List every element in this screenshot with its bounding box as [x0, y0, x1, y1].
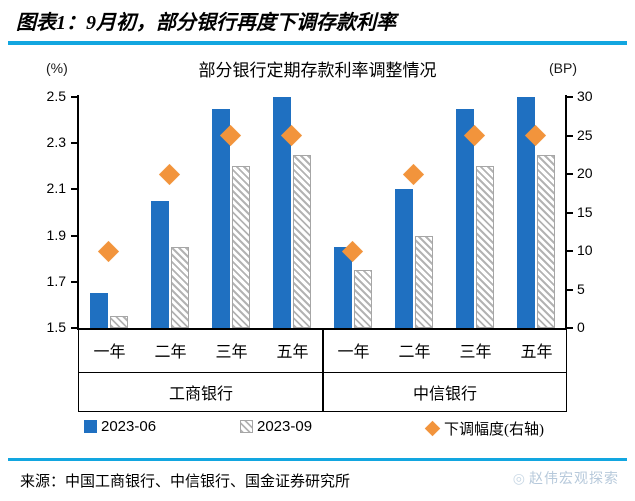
y-axis-right-label: 10 — [577, 242, 617, 258]
y-axis-right-label: 25 — [577, 127, 617, 143]
chart-legend: 2023-062023-09下调幅度(右轴) — [0, 416, 635, 446]
y-axis-left-tick — [71, 327, 77, 329]
x-axis-category-label: 一年 — [324, 338, 384, 362]
y-axis-right-label: 20 — [577, 165, 617, 181]
legend-label: 2023-09 — [257, 418, 312, 435]
legend-item[interactable]: 2023-06 — [84, 418, 156, 435]
y-axis-right-label: 5 — [577, 281, 617, 297]
bar-2023-06 — [395, 189, 413, 328]
y-axis-right-tick — [567, 327, 573, 329]
y-axis-left-label: 1.5 — [26, 319, 66, 335]
x-axis-category-label: 二年 — [385, 338, 445, 362]
bar-2023-09 — [293, 155, 311, 328]
legend-swatch-icon — [240, 420, 253, 433]
legend-label: 下调幅度(右轴) — [444, 418, 544, 439]
y-axis-right-tick — [567, 289, 573, 291]
y-axis-right-label: 0 — [577, 319, 617, 335]
footer-divider — [8, 458, 627, 461]
bar-2023-06 — [90, 293, 108, 328]
y-axis-left-tick — [71, 96, 77, 98]
y-axis-right-tick — [567, 96, 573, 98]
y-axis-right-label: 30 — [577, 88, 617, 104]
bar-2023-09 — [476, 166, 494, 328]
marker-adjustment — [159, 163, 180, 184]
x-axis-category-label: 三年 — [202, 338, 262, 362]
x-axis-group-label: 中信银行 — [365, 380, 525, 404]
y-axis-left-tick — [71, 281, 77, 283]
x-axis-category-label: 一年 — [80, 338, 140, 362]
marker-adjustment — [98, 240, 119, 261]
bar-2023-09 — [537, 155, 555, 328]
y-axis-left-label: 2.1 — [26, 180, 66, 196]
y-axis-left-label: 2.3 — [26, 134, 66, 150]
legend-label: 2023-06 — [101, 418, 156, 435]
bar-2023-09 — [110, 316, 128, 328]
x-axis-group-label: 工商银行 — [121, 380, 281, 404]
bar-2023-09 — [415, 236, 433, 328]
header-divider — [8, 41, 627, 45]
y-axis-left-label: 1.9 — [26, 227, 66, 243]
y-axis-left-label: 1.7 — [26, 273, 66, 289]
legend-swatch-icon — [425, 421, 441, 437]
x-axis-category-label: 五年 — [507, 338, 567, 362]
x-axis-category-label: 三年 — [446, 338, 506, 362]
group-divider — [322, 330, 324, 412]
y-axis-right-label: 15 — [577, 204, 617, 220]
bar-2023-09 — [171, 247, 189, 328]
chart-container: 部分银行定期存款利率调整情况 (%) (BP) 2.52.32.11.91.71… — [0, 50, 635, 455]
y-axis-right-tick — [567, 135, 573, 137]
bar-2023-06 — [151, 201, 169, 328]
bar-2023-09 — [354, 270, 372, 328]
plot-area — [78, 97, 566, 328]
y-axis-left-tick — [71, 188, 77, 190]
chart-title: 部分银行定期存款利率调整情况 — [0, 56, 635, 81]
legend-item[interactable]: 2023-09 — [240, 418, 312, 435]
seal-icon: ◎ — [513, 471, 526, 488]
y-axis-left-tick — [71, 142, 77, 144]
source-note: 来源：中国工商银行、中信银行、国金证券研究所 — [20, 470, 350, 491]
legend-item[interactable]: 下调幅度(右轴) — [425, 418, 544, 439]
y-axis-right-tick — [567, 212, 573, 214]
marker-adjustment — [403, 163, 424, 184]
x-axis-category-label: 五年 — [263, 338, 323, 362]
y-axis-right-tick — [567, 250, 573, 252]
y-axis-right-unit: (BP) — [549, 60, 577, 76]
watermark: ◎赵伟宏观探索 — [513, 468, 619, 488]
y-axis-left-unit: (%) — [46, 60, 68, 76]
y-axis-left-label: 2.5 — [26, 88, 66, 104]
watermark-label: 赵伟宏观探索 — [529, 472, 619, 487]
page-title: 图表1：9月初，部分银行再度下调存款利率 — [16, 6, 396, 35]
chart-header: 图表1：9月初，部分银行再度下调存款利率 — [0, 0, 635, 46]
bar-2023-09 — [232, 166, 250, 328]
legend-swatch-icon — [84, 420, 97, 433]
y-axis-right-tick — [567, 173, 573, 175]
x-axis-category-label: 二年 — [141, 338, 201, 362]
y-axis-left-tick — [71, 235, 77, 237]
